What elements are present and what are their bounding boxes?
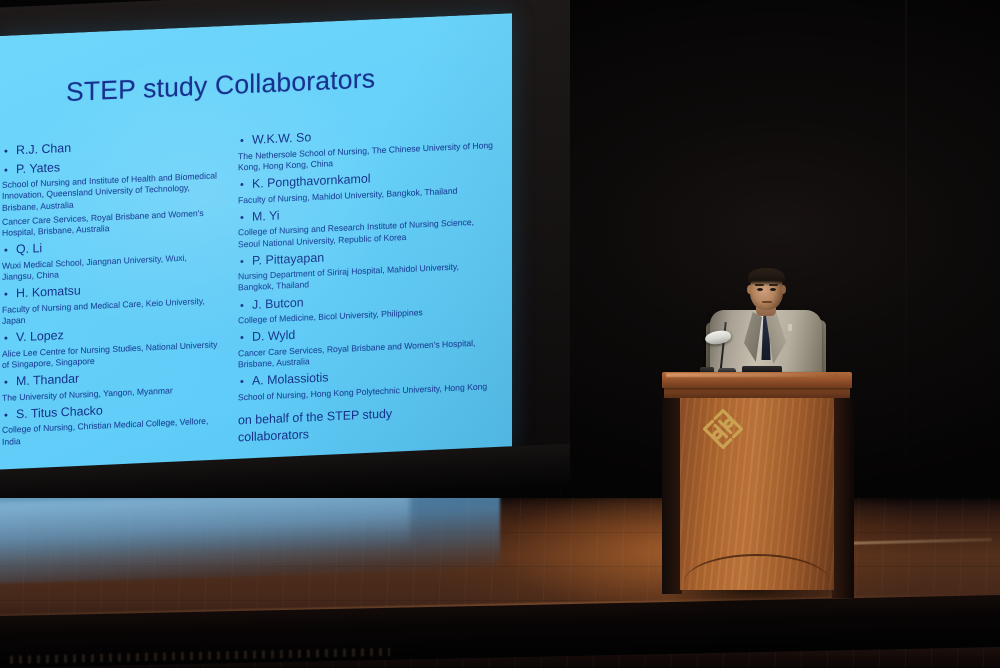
collaborator-name: V. Lopez <box>16 327 64 347</box>
list-item: • S. Titus Chacko College of Nursing, Ch… <box>2 396 230 447</box>
collaborator-list-right: • W.K.W. So The Nethersole School of Nur… <box>238 121 500 404</box>
collaborator-name: D. Wyld <box>252 327 295 347</box>
list-item: • P. Yates School of Nursing and Institu… <box>2 151 230 239</box>
bullet-icon: • <box>2 289 12 300</box>
collaborator-name: Q. Li <box>16 240 42 259</box>
collaborator-column-right: • W.K.W. So The Nethersole School of Nur… <box>238 121 500 446</box>
speaker-eyebrow-right <box>769 284 778 286</box>
bullet-icon: • <box>238 180 248 191</box>
list-item: • H. Komatsu Faculty of Nursing and Medi… <box>2 276 230 327</box>
slide-title: STEP study Collaborators <box>66 63 375 108</box>
bullet-icon: • <box>238 213 248 224</box>
bullet-icon: • <box>238 377 248 388</box>
podium-side-left <box>662 398 682 594</box>
bullet-icon: • <box>2 146 12 157</box>
collaborator-name: R.J. Chan <box>16 140 71 160</box>
speaker-name-badge <box>788 324 792 331</box>
bullet-icon: • <box>2 333 12 344</box>
bullet-icon: • <box>238 333 248 344</box>
bullet-icon: • <box>2 410 12 421</box>
bullet-icon: • <box>238 301 248 312</box>
collaborator-name: W.K.W. So <box>252 129 311 149</box>
speaker-eye-right <box>770 288 776 291</box>
collaborator-list-left: • R.J. Chan • P. Yates School of Nursing… <box>2 133 230 448</box>
collaborator-name: P. Yates <box>16 159 60 179</box>
bullet-icon: • <box>2 377 12 388</box>
bullet-icon: • <box>2 246 12 257</box>
collaborator-name: P. Pittayapan <box>252 249 324 270</box>
collaborator-name: H. Komatsu <box>16 282 81 302</box>
speaker-eye-left <box>757 288 763 291</box>
podium-desk-surface <box>662 372 852 388</box>
podium-under-lip <box>664 388 850 398</box>
wooden-podium <box>662 372 852 594</box>
bullet-icon: • <box>238 136 248 147</box>
speaker-eyebrow-left <box>755 284 764 286</box>
collaborator-name: J. Butcon <box>252 294 304 314</box>
collaborator-column-left: • R.J. Chan • P. Yates School of Nursing… <box>2 133 230 451</box>
bullet-icon: • <box>2 165 12 176</box>
list-item: • Q. Li Wuxi Medical School, Jiangnan Un… <box>2 232 230 283</box>
speaker-ear-right <box>781 285 786 294</box>
projected-slide: STEP study Collaborators • R.J. Chan <box>0 13 512 472</box>
interlocking-knot-emblem-icon <box>700 406 746 452</box>
podium-side-right <box>832 398 854 598</box>
slide-closing-line: on behalf of the STEP study collaborator… <box>238 401 500 446</box>
presentation-photo-scene: STEP study Collaborators • R.J. Chan <box>0 0 1000 668</box>
speaker-ear-left <box>747 285 752 294</box>
speaker-hair <box>748 268 785 286</box>
collaborator-name: M. Yi <box>252 207 280 226</box>
speaker-mouth <box>762 301 772 303</box>
podium-desk-highlight <box>666 373 838 377</box>
bullet-icon: • <box>238 257 248 268</box>
collaborator-name: A. Molassiotis <box>252 370 328 391</box>
collaborator-name: M. Thandar <box>16 370 79 390</box>
list-item: • V. Lopez Alice Lee Centre for Nursing … <box>2 320 230 371</box>
collaborator-columns: • R.J. Chan • P. Yates School of Nursing… <box>0 120 512 143</box>
wall-seam-secondary <box>905 0 907 500</box>
